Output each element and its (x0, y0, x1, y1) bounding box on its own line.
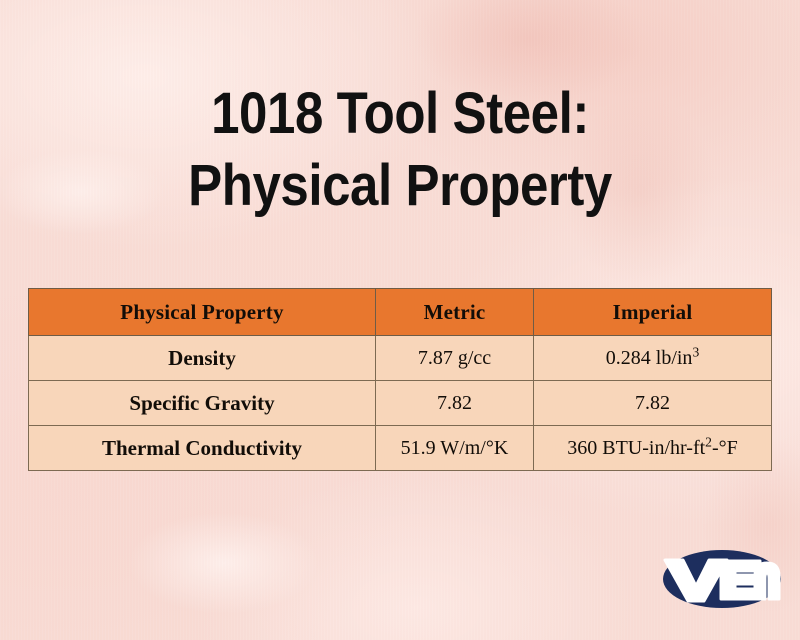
slide-canvas: 1018 Tool Steel: Physical Property Physi… (0, 0, 800, 640)
column-header-imperial: Imperial (534, 289, 772, 336)
table-header-row: Physical Property Metric Imperial (29, 289, 772, 336)
title-line-1: 1018 Tool Steel: (48, 78, 752, 150)
table-row: Density 7.87 g/cc 0.284 lb/in3 (29, 336, 772, 381)
cell-metric: 51.9 W/m/°K (376, 426, 534, 471)
cell-metric: 7.82 (376, 381, 534, 426)
page-title: 1018 Tool Steel: Physical Property (0, 78, 800, 222)
table-row: Specific Gravity 7.82 7.82 (29, 381, 772, 426)
cell-property: Density (29, 336, 376, 381)
cell-property: Thermal Conductivity (29, 426, 376, 471)
column-header-metric: Metric (376, 289, 534, 336)
cell-property: Specific Gravity (29, 381, 376, 426)
title-line-2: Physical Property (48, 150, 752, 222)
cell-metric: 7.87 g/cc (376, 336, 534, 381)
vem-logo (659, 543, 785, 615)
column-header-property: Physical Property (29, 289, 376, 336)
table-row: Thermal Conductivity 51.9 W/m/°K 360 BTU… (29, 426, 772, 471)
cell-imperial: 360 BTU-in/hr-ft2-°F (534, 426, 772, 471)
physical-property-table: Physical Property Metric Imperial Densit… (28, 288, 772, 471)
cell-imperial: 0.284 lb/in3 (534, 336, 772, 381)
cell-imperial: 7.82 (534, 381, 772, 426)
